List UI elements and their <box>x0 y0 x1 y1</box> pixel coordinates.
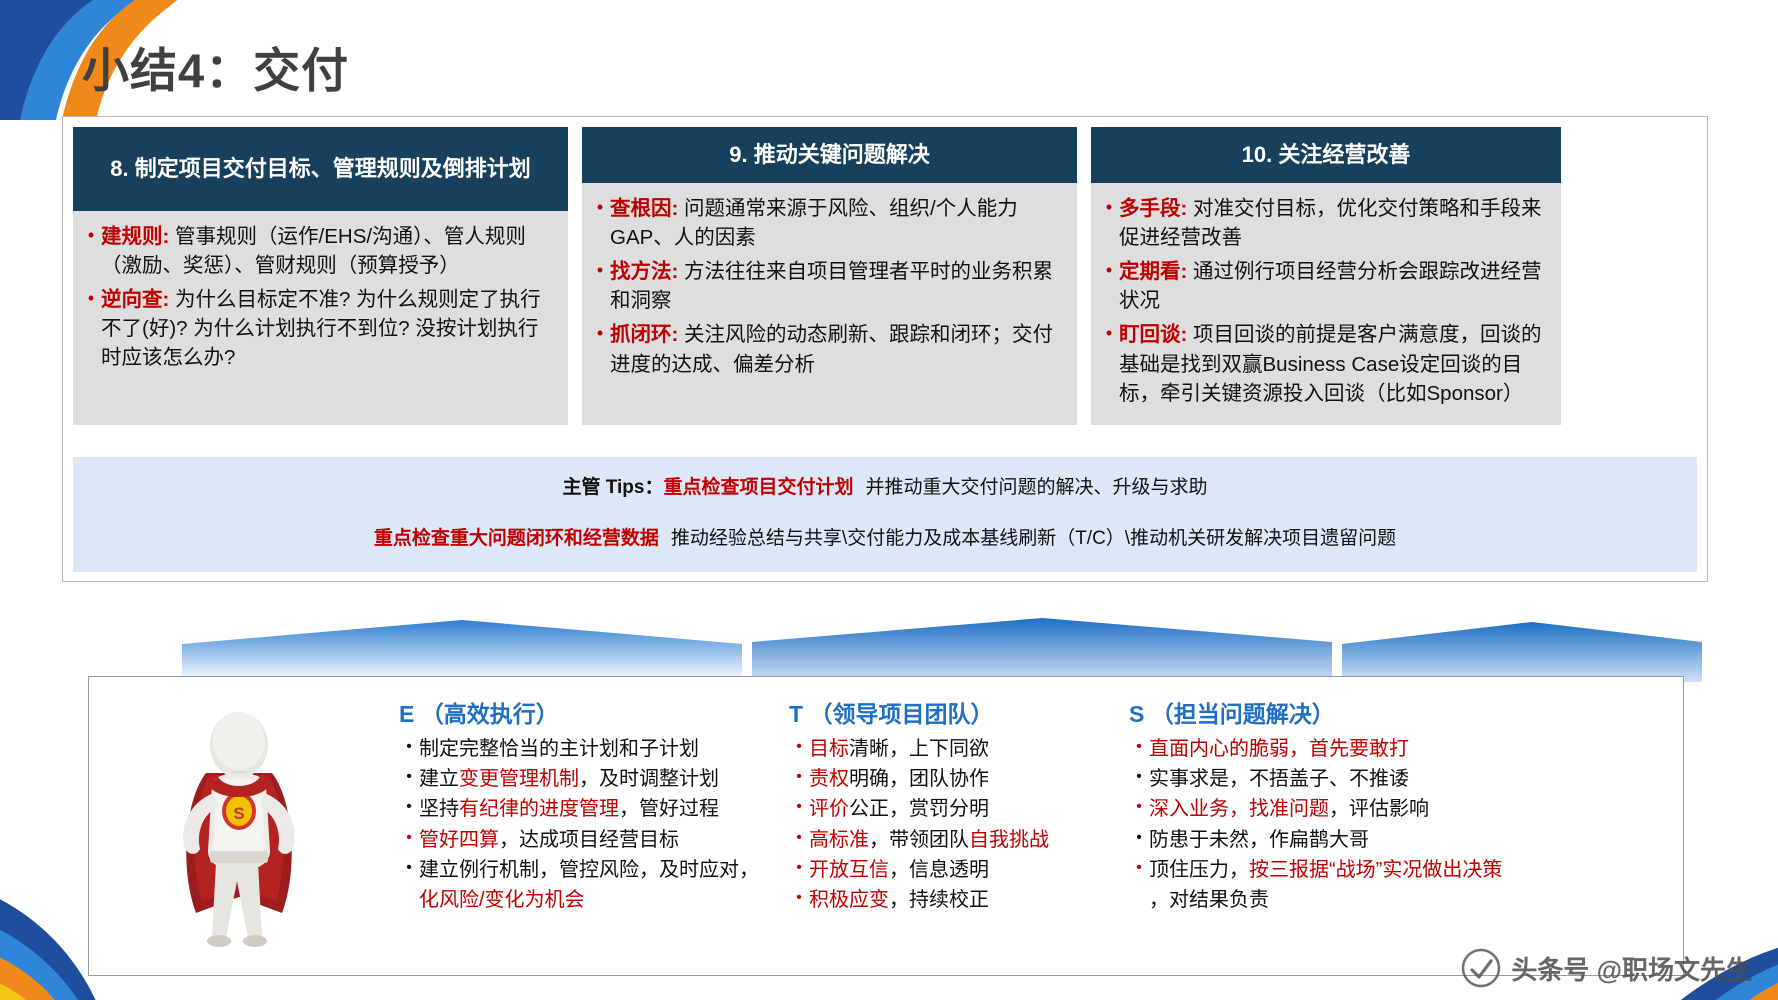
card-9-bullet-1-lead: 查根因: <box>610 197 678 220</box>
bullet-dot-icon: • <box>789 826 809 855</box>
text-segment: 制定完整恰当的主计划和子计划 <box>419 738 699 760</box>
ets-list-item-text: 实事求是，不捂盖子、不推诿 <box>1149 765 1633 794</box>
ets-list-item: •坚持有纪律的进度管理，管好过程 <box>399 795 773 824</box>
bullet-dot-icon: • <box>1099 194 1119 252</box>
ets-column-t: T （领导项目团队） •目标清晰，上下同欲•责权明确，团队协作•评价公正，赏罚分… <box>779 677 1119 975</box>
card-8-bullet-1: • 建规则: 管事规则（运作/EHS/沟通）、管人规则（激励、奖惩）、管财规则（… <box>81 222 558 280</box>
card-10-bullet-3: • 盯回谈: 项目回谈的前提是客户满意度，回谈的基础是找到双赢Business … <box>1099 320 1551 407</box>
ets-column-s: S （担当问题解决） •直面内心的脆弱，首先要敢打•实事求是，不捂盖子、不推诿•… <box>1119 677 1639 975</box>
ets-list-item-text: 坚持有纪律的进度管理，管好过程 <box>419 795 773 824</box>
text-segment: 坚持 <box>419 798 459 820</box>
ets-list-item: •实事求是，不捂盖子、不推诿 <box>1129 765 1633 794</box>
summary-panel: 8. 制定项目交付目标、管理规则及倒排计划 • 建规则: 管事规则（运作/EHS… <box>62 116 1708 582</box>
cards-row: 8. 制定项目交付目标、管理规则及倒排计划 • 建规则: 管事规则（运作/EHS… <box>63 117 1707 425</box>
tips-row-2-rest: 推动经验总结与共享\交付能力及成本基线刷新（T/C）\推动机关研发解决项目遗留问… <box>671 528 1396 549</box>
ets-t-subtitle: （领导项目团队） <box>809 701 993 727</box>
card-9-header: 9. 推动关键问题解决 <box>582 127 1077 183</box>
ets-list-item-text: 建立变更管理机制，及时调整计划 <box>419 765 773 794</box>
ets-list-item: ，对结果负责 <box>1129 886 1633 915</box>
ets-list-item: •直面内心的脆弱，首先要敢打 <box>1129 735 1633 764</box>
ets-panel: S E （高效执行） •制定完整恰当的主计划和子计划•建立变更管理机制，及时 <box>88 676 1684 976</box>
bullet-dot-icon: • <box>1099 320 1119 407</box>
text-segment: 深入业务，找准问题 <box>1149 798 1329 820</box>
text-segment: 自我挑战 <box>969 829 1049 851</box>
bullet-dot-icon: • <box>789 735 809 764</box>
text-segment: 评价 <box>809 798 849 820</box>
card-10-header: 10. 关注经营改善 <box>1091 127 1561 183</box>
bullet-dot-icon <box>1129 886 1149 915</box>
bullet-dot-icon: • <box>789 795 809 824</box>
bullet-dot-icon: • <box>399 795 419 824</box>
tips-row-1: 主管 Tips：重点检查项目交付计划并推动重大交付问题的解决、升级与求助 <box>91 474 1679 503</box>
chevron-connector-band <box>62 612 1708 682</box>
text-segment: 变更管理机制 <box>459 768 579 790</box>
ets-list-item-text: 防患于未然，作扁鹊大哥 <box>1149 826 1633 855</box>
ets-list-item-text: 制定完整恰当的主计划和子计划 <box>419 735 773 764</box>
card-9-body: • 查根因: 问题通常来源于风险、组织/个人能力GAP、人的因素 • 找方法: … <box>582 183 1077 425</box>
bullet-dot-icon: • <box>399 826 419 855</box>
text-segment: 清晰，上下同欲 <box>849 738 989 760</box>
text-segment: 高标准 <box>809 829 869 851</box>
card-9-bullet-3: • 抓闭环: 关注风险的动态刷新、跟踪和闭环；交付进度的达成、偏差分析 <box>590 320 1067 378</box>
text-segment: 管好四算 <box>419 829 499 851</box>
card-9-bullet-1: • 查根因: 问题通常来源于风险、组织/个人能力GAP、人的因素 <box>590 194 1067 252</box>
tips-colon: ： <box>644 477 663 498</box>
card-10-bullet-2: • 定期看: 通过例行项目经营分析会跟踪改进经营状况 <box>1099 257 1551 315</box>
ets-list-item: •责权明确，团队协作 <box>789 765 1113 794</box>
tips-row-1-red: 重点检查项目交付计划 <box>663 477 853 498</box>
text-segment: 目标 <box>809 738 849 760</box>
bullet-dot-icon: • <box>1129 765 1149 794</box>
text-segment: 防患于未然，作扁鹊大哥 <box>1149 829 1369 851</box>
ets-e-title: E （高效执行） <box>399 695 773 729</box>
text-segment: 公正，赏罚分明 <box>849 798 989 820</box>
bullet-dot-icon: • <box>81 222 101 280</box>
bullet-dot-icon: • <box>1129 856 1149 885</box>
card-10-bullet-1: • 多手段: 对准交付目标，优化交付策略和手段来促进经营改善 <box>1099 194 1551 252</box>
ets-t-letter: T <box>789 701 803 727</box>
bullet-dot-icon <box>399 886 419 915</box>
bullet-dot-icon: • <box>789 765 809 794</box>
text-segment: 积极应变 <box>809 889 889 911</box>
tips-row-2: 重点检查重大问题闭环和经营数据推动经验总结与共享\交付能力及成本基线刷新（T/C… <box>91 525 1679 554</box>
bullet-dot-icon: • <box>1129 795 1149 824</box>
card-8-bullet-2: • 逆向查: 为什么目标定不准? 为什么规则定了执行不了(好)? 为什么计划执行… <box>81 285 558 372</box>
card-10: 10. 关注经营改善 • 多手段: 对准交付目标，优化交付策略和手段来促进经营改… <box>1091 127 1561 425</box>
tips-row-2-red: 重点检查重大问题闭环和经营数据 <box>374 528 659 549</box>
ets-list-item: 化风险/变化为机会 <box>399 886 773 915</box>
bullet-dot-icon: • <box>1129 826 1149 855</box>
text-segment: 化风险/变化为机会 <box>419 889 585 911</box>
ets-s-letter: S <box>1129 701 1144 727</box>
text-segment: 有纪律的进度管理 <box>459 798 619 820</box>
text-segment: ，及时调整计划 <box>579 768 719 790</box>
text-segment: ，信息透明 <box>889 859 989 881</box>
text-segment: 实事求是，不捂盖子、不推诿 <box>1149 768 1409 790</box>
ets-list-item-text: 积极应变，持续校正 <box>809 886 1113 915</box>
text-segment: 明确，团队协作 <box>849 768 989 790</box>
ets-list-item: •制定完整恰当的主计划和子计划 <box>399 735 773 764</box>
mascot-figure-icon: S <box>144 701 334 951</box>
card-10-body: • 多手段: 对准交付目标，优化交付策略和手段来促进经营改善 • 定期看: 通过… <box>1091 183 1561 425</box>
text-segment: 责权 <box>809 768 849 790</box>
text-segment: 开放互信 <box>809 859 889 881</box>
ets-list-item-text: 管好四算，达成项目经营目标 <box>419 826 773 855</box>
bullet-dot-icon: • <box>399 765 419 794</box>
card-10-bullet-3-lead: 盯回谈: <box>1119 323 1187 346</box>
ets-list-item-text: ，对结果负责 <box>1149 886 1633 915</box>
ets-s-title: S （担当问题解决） <box>1129 695 1633 729</box>
ets-list-item-text: 责权明确，团队协作 <box>809 765 1113 794</box>
bullet-dot-icon: • <box>1099 257 1119 315</box>
bullet-dot-icon: • <box>789 856 809 885</box>
manager-tips-band: 主管 Tips：重点检查项目交付计划并推动重大交付问题的解决、升级与求助 重点检… <box>73 457 1697 572</box>
ets-list-item-text: 高标准，带领团队自我挑战 <box>809 826 1113 855</box>
bullet-dot-icon: • <box>399 856 419 885</box>
ets-e-list: •制定完整恰当的主计划和子计划•建立变更管理机制，及时调整计划•坚持有纪律的进度… <box>399 735 773 915</box>
ets-list-item-text: 开放互信，信息透明 <box>809 856 1113 885</box>
slide-canvas: 小结4：交付 8. 制定项目交付目标、管理规则及倒排计划 • 建规则: 管事规则… <box>0 0 1778 1000</box>
card-8: 8. 制定项目交付目标、管理规则及倒排计划 • 建规则: 管事规则（运作/EHS… <box>73 127 568 425</box>
ets-list-item-text: 顶住压力，按三报据“战场”实况做出决策 <box>1149 856 1633 885</box>
text-segment: ，达成项目经营目标 <box>499 829 679 851</box>
ets-list-item: •高标准，带领团队自我挑战 <box>789 826 1113 855</box>
text-segment: 建立例行机制，管控风险，及时应对， <box>419 859 759 881</box>
card-10-bullet-1-lead: 多手段: <box>1119 197 1187 220</box>
ets-list-item: •顶住压力，按三报据“战场”实况做出决策 <box>1129 856 1633 885</box>
svg-text:S: S <box>233 804 244 823</box>
text-segment: ，对结果负责 <box>1149 889 1269 911</box>
tips-row-1-rest: 并推动重大交付问题的解决、升级与求助 <box>866 477 1208 498</box>
card-8-body: • 建规则: 管事规则（运作/EHS/沟通）、管人规则（激励、奖惩）、管财规则（… <box>73 211 568 425</box>
ets-list-item-text: 目标清晰，上下同欲 <box>809 735 1113 764</box>
bullet-dot-icon: • <box>590 257 610 315</box>
text-segment: ，管好过程 <box>619 798 719 820</box>
ets-t-title: T （领导项目团队） <box>789 695 1113 729</box>
text-segment: 直面内心的脆弱，首先要敢打 <box>1149 738 1409 760</box>
tips-label: 主管 Tips <box>562 477 644 498</box>
ets-list-item: •建立变更管理机制，及时调整计划 <box>399 765 773 794</box>
ets-s-list: •直面内心的脆弱，首先要敢打•实事求是，不捂盖子、不推诿•深入业务，找准问题，评… <box>1129 735 1633 915</box>
bullet-dot-icon: • <box>590 320 610 378</box>
card-8-bullet-1-lead: 建规则: <box>101 225 169 248</box>
superhero-mascot-illustration: S <box>89 677 389 975</box>
bullet-dot-icon: • <box>81 285 101 372</box>
ets-list-item-text: 评价公正，赏罚分明 <box>809 795 1113 824</box>
ets-e-letter: E <box>399 701 414 727</box>
ets-e-subtitle: （高效执行） <box>421 701 559 727</box>
card-8-bullet-2-lead: 逆向查: <box>101 288 169 311</box>
ets-list-item-text: 深入业务，找准问题，评估影响 <box>1149 795 1633 824</box>
ets-list-item: •积极应变，持续校正 <box>789 886 1113 915</box>
ets-list-item-text: 建立例行机制，管控风险，及时应对， <box>419 856 773 885</box>
text-segment: 顶住压力， <box>1149 859 1249 881</box>
ets-list-item: •管好四算，达成项目经营目标 <box>399 826 773 855</box>
ets-list-item-text: 直面内心的脆弱，首先要敢打 <box>1149 735 1633 764</box>
ets-list-item: •目标清晰，上下同欲 <box>789 735 1113 764</box>
ets-column-e: E （高效执行） •制定完整恰当的主计划和子计划•建立变更管理机制，及时调整计划… <box>389 677 779 975</box>
ets-t-list: •目标清晰，上下同欲•责权明确，团队协作•评价公正，赏罚分明•高标准，带领团队自… <box>789 735 1113 915</box>
ets-list-item: •开放互信，信息透明 <box>789 856 1113 885</box>
text-segment: ，持续校正 <box>889 889 989 911</box>
ets-list-item: •评价公正，赏罚分明 <box>789 795 1113 824</box>
text-segment: ，评估影响 <box>1329 798 1429 820</box>
bullet-dot-icon: • <box>789 886 809 915</box>
card-8-header: 8. 制定项目交付目标、管理规则及倒排计划 <box>73 127 568 211</box>
page-title: 小结4：交付 <box>82 32 349 101</box>
ets-list-item: •防患于未然，作扁鹊大哥 <box>1129 826 1633 855</box>
card-9-bullet-3-lead: 抓闭环: <box>610 323 678 346</box>
ets-list-item: •深入业务，找准问题，评估影响 <box>1129 795 1633 824</box>
ets-s-subtitle: （担当问题解决） <box>1151 701 1335 727</box>
bullet-dot-icon: • <box>1129 735 1149 764</box>
card-9-bullet-2: • 找方法: 方法往往来自项目管理者平时的业务积累和洞察 <box>590 257 1067 315</box>
bullet-dot-icon: • <box>399 735 419 764</box>
text-segment: 建立 <box>419 768 459 790</box>
bullet-dot-icon: • <box>590 194 610 252</box>
card-9: 9. 推动关键问题解决 • 查根因: 问题通常来源于风险、组织/个人能力GAP、… <box>582 127 1077 425</box>
text-segment: ，带领团队 <box>869 829 969 851</box>
card-10-bullet-2-lead: 定期看: <box>1119 260 1187 283</box>
ets-list-item: •建立例行机制，管控风险，及时应对， <box>399 856 773 885</box>
text-segment: 按三报据“战场”实况做出决策 <box>1249 859 1502 881</box>
card-9-bullet-2-lead: 找方法: <box>610 260 678 283</box>
ets-list-item-text: 化风险/变化为机会 <box>419 886 773 915</box>
